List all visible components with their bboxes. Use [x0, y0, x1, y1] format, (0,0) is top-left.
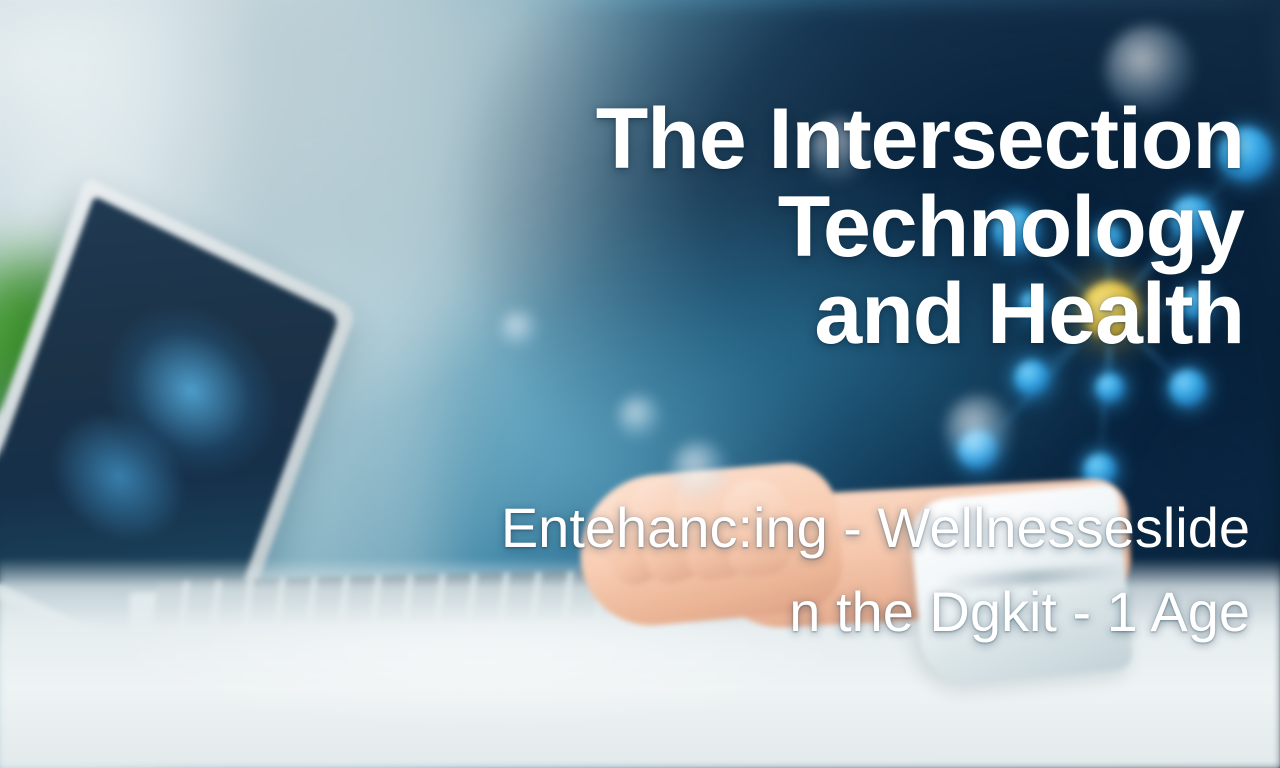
slide-title: The Intersection Technology and Health [0, 96, 1244, 359]
slide-subtitle: Entehanc:ing - Wellnesseslide n the Dgki… [0, 486, 1250, 654]
presentation-slide: The Intersection Technology and Health E… [0, 0, 1280, 768]
slide-text-block: The Intersection Technology and Health E… [0, 0, 1280, 768]
subtitle-line-2: n the Dgkit - 1 Age [0, 570, 1250, 654]
title-line-2: Technology [0, 184, 1244, 272]
subtitle-line-1: Entehanc:ing - Wellnesseslide [0, 486, 1250, 570]
title-line-3: and Health [0, 271, 1244, 359]
title-line-1: The Intersection [0, 96, 1244, 184]
